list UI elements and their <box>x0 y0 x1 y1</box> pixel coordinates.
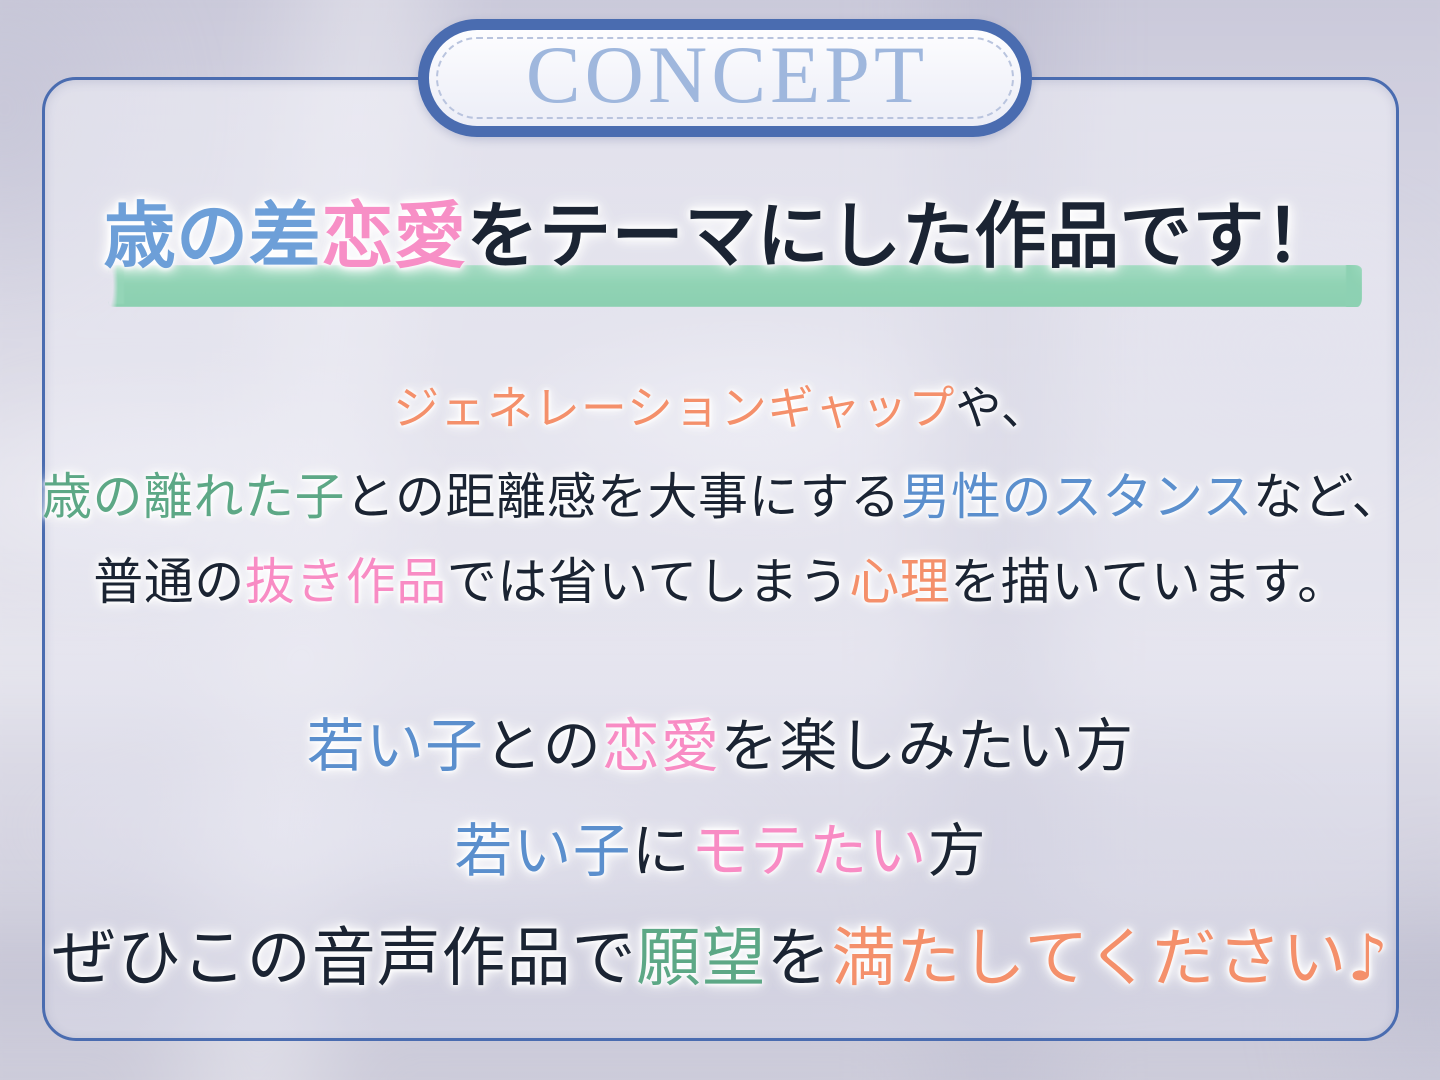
cta-line-2-segment-4: 方 <box>928 817 987 885</box>
body-line-3-segment-1: 普通の <box>93 553 245 611</box>
body-line-2-segment-3: 男性のスタンス <box>901 468 1254 526</box>
cta-line-3-segment-3: を <box>766 922 831 996</box>
cta-line-3-segment-1: ぜひこの音声作品で <box>52 922 637 996</box>
title-badge: CONCEPT <box>418 19 1032 137</box>
cta-line-2-segment-1: 若い子 <box>454 817 631 885</box>
cta-line-1-segment-1: 若い子 <box>307 712 484 780</box>
body-line-3: 普通の抜き作品では省いてしまう心理を描いています。 <box>42 557 1399 607</box>
cta-line-3-segment-4: 満たしてください♪ <box>831 922 1389 996</box>
body-line-1: ジェネレーションギャップや、 <box>42 385 1399 431</box>
body-line-3-segment-3: では省いてしまう <box>447 553 850 611</box>
body-line-2: 歳の離れた子との距離感を大事にする男性のスタンスなど、 <box>42 472 1399 522</box>
cta-line-2-segment-2: に <box>632 817 691 885</box>
headline-segment-1: 歳の差 <box>104 194 322 278</box>
body-line-3-segment-4: 心理 <box>849 553 950 611</box>
page-title: CONCEPT <box>522 34 928 116</box>
body-line-3-segment-5: を描いています。 <box>950 553 1348 611</box>
body-line-1-segment-2: や、 <box>955 381 1047 435</box>
headline-segment-3: をテーマにした作品です！ <box>466 194 1337 278</box>
concept-slide: 歳の差恋愛をテーマにした作品です！ ジェネレーションギャップや、 歳の離れた子と… <box>0 0 1440 1080</box>
body-line-2-segment-1: 歳の離れた子 <box>42 468 345 526</box>
cta-line-2-segment-3: モテたい <box>691 817 928 885</box>
cta-line-1-segment-3: 恋愛 <box>602 712 720 780</box>
headline: 歳の差恋愛をテーマにした作品です！ <box>42 200 1399 272</box>
headline-segment-2: 恋愛 <box>321 194 466 278</box>
body-line-1-segment-1: ジェネレーションギャップ <box>393 381 955 435</box>
cta-line-2: 若い子にモテたい方 <box>42 822 1399 880</box>
cta-line-3: ぜひこの音声作品で願望を満たしてください♪ <box>42 927 1399 991</box>
body-line-2-segment-2: との距離感を大事にする <box>345 468 901 526</box>
cta-line-1: 若い子との恋愛を楽しみたい方 <box>42 717 1399 775</box>
title-badge-area: CONCEPT <box>0 0 1440 150</box>
cta-line-1-segment-4: を楽しみたい方 <box>720 712 1134 780</box>
content-area: 歳の差恋愛をテーマにした作品です！ ジェネレーションギャップや、 歳の離れた子と… <box>42 77 1399 1041</box>
cta-line-3-segment-2: 願望 <box>637 922 767 996</box>
cta-line-1-segment-2: との <box>484 712 602 780</box>
body-line-3-segment-2: 抜き作品 <box>245 553 447 611</box>
body-line-2-segment-4: など、 <box>1253 468 1402 526</box>
